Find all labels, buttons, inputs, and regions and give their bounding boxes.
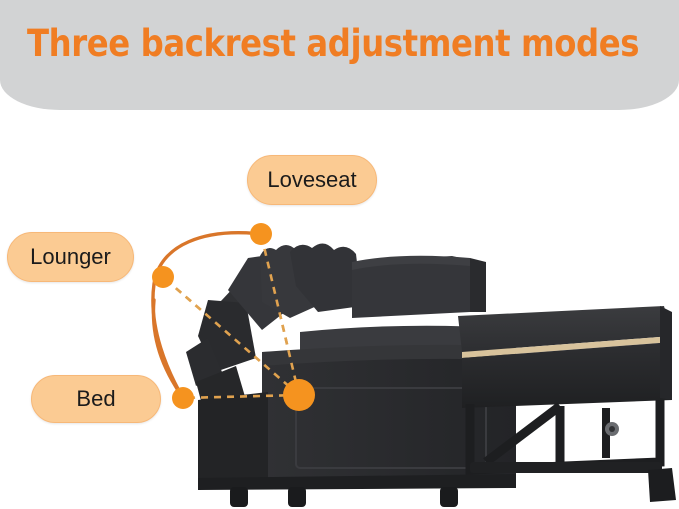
mode-label-bed-text: Bed	[76, 386, 115, 412]
mode-label-bed[interactable]: Bed	[31, 375, 161, 423]
mode-label-lounger-text: Lounger	[30, 244, 111, 270]
infographic-canvas: Three backrest adjustment modes	[0, 0, 679, 509]
mode-label-loveseat-text: Loveseat	[267, 167, 356, 193]
mode-label-lounger[interactable]: Lounger	[7, 232, 134, 282]
mode-label-loveseat[interactable]: Loveseat	[247, 155, 377, 205]
mode-label-group: Loveseat Lounger Bed	[0, 0, 679, 509]
